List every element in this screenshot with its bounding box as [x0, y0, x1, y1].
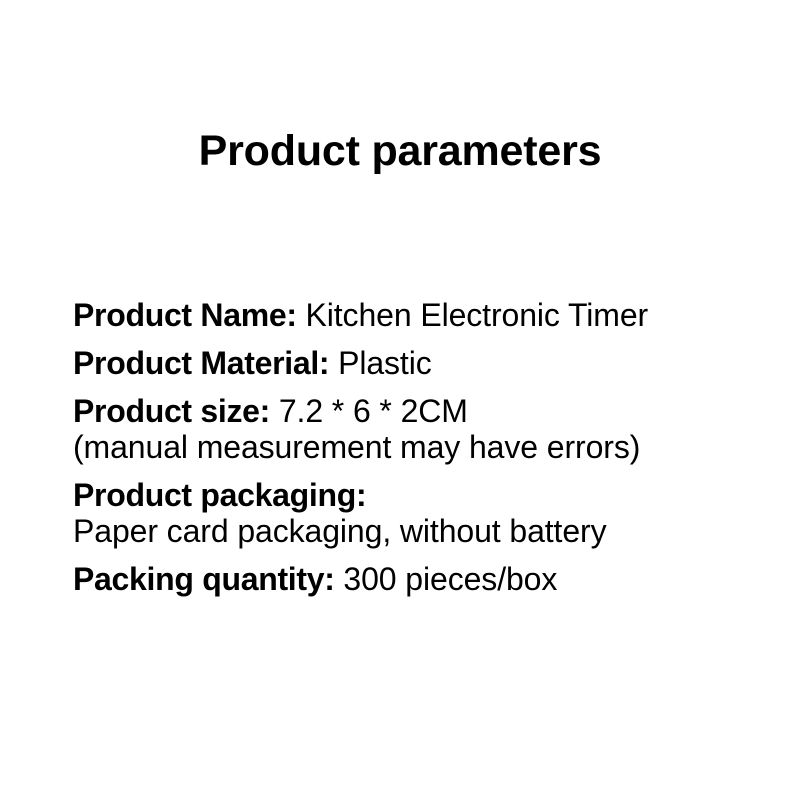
parameter-value: Kitchen Electronic Timer — [306, 297, 649, 333]
product-parameters-page: Product parameters Product Name: Kitchen… — [0, 0, 800, 800]
parameter-label: Product Material: — [73, 345, 329, 381]
parameter-row-product-size: Product size: 7.2 * 6 * 2CM — [73, 393, 773, 429]
parameter-note-text: (manual measurement may have errors) — [73, 429, 640, 465]
parameter-note-text: Paper card packaging, without battery — [73, 513, 607, 549]
parameter-list: Product Name: Kitchen Electronic Timer P… — [73, 297, 773, 597]
parameter-row-product-material: Product Material: Plastic — [73, 345, 773, 381]
page-title: Product parameters — [0, 128, 800, 175]
parameter-value: 300 pieces/box — [343, 561, 557, 597]
parameter-value: Plastic — [338, 345, 432, 381]
parameter-note-product-packaging: Paper card packaging, without battery — [73, 513, 773, 549]
parameter-label: Product packaging: — [73, 477, 366, 513]
parameter-note-product-size: (manual measurement may have errors) — [73, 429, 773, 465]
parameter-row-product-name: Product Name: Kitchen Electronic Timer — [73, 297, 773, 333]
parameter-label: Product size: — [73, 393, 270, 429]
parameter-label: Packing quantity: — [73, 561, 335, 597]
parameter-row-packing-quantity: Packing quantity: 300 pieces/box — [73, 561, 773, 597]
parameter-row-product-packaging: Product packaging: — [73, 477, 773, 513]
parameter-value: 7.2 * 6 * 2CM — [279, 393, 468, 429]
parameter-label: Product Name: — [73, 297, 297, 333]
